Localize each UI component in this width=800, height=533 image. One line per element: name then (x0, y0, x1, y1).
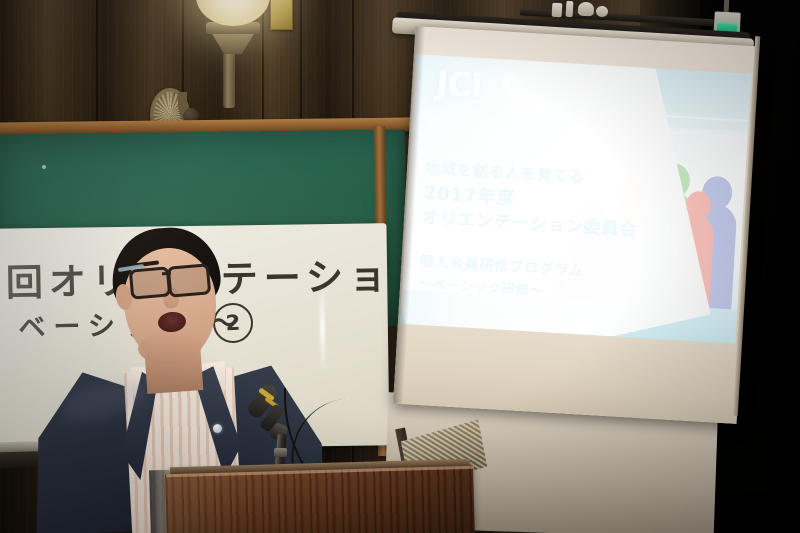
sconce-stem (223, 52, 235, 108)
microphone-stand-collar (274, 448, 287, 457)
projected-slide: JCI (400, 54, 751, 343)
brass-plaque (270, 0, 293, 30)
photo-scene: 7回オリエンテーション委員会 〜 ベーシック 〜 2 JCI (0, 0, 800, 533)
projection-screen: JCI (393, 26, 759, 424)
lapel-pin (213, 424, 222, 433)
ledge-object (566, 1, 574, 17)
eyeglasses-right-lens (167, 263, 212, 298)
ledge-object (578, 2, 595, 17)
chalkboard-mark (42, 165, 46, 169)
ledge-object (552, 3, 563, 18)
